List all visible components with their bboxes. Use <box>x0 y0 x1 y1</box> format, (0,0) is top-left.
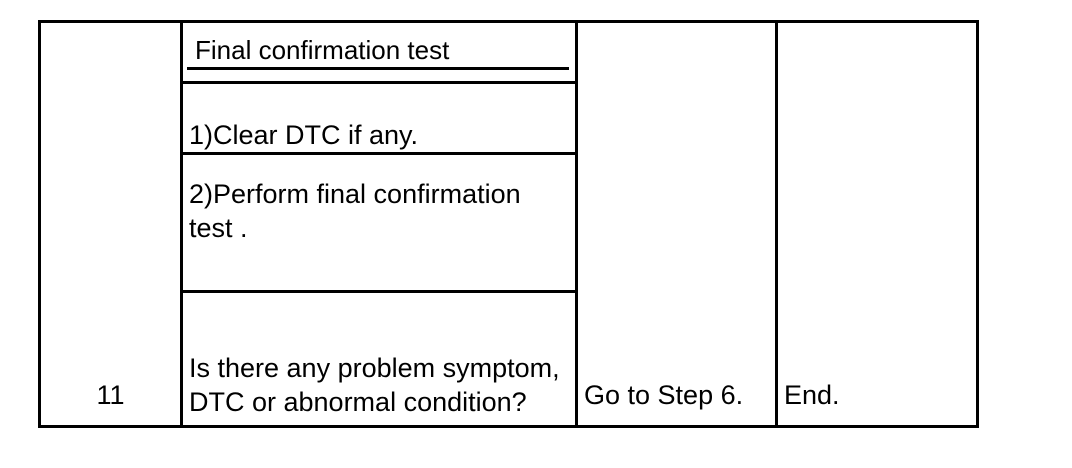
yes-action-text: Go to Step 6. <box>578 365 775 425</box>
procedure-step-1-text: 1)Clear DTC if any. <box>189 118 571 152</box>
procedure-step-2-row: 2)Perform final confirmation test . <box>183 155 575 293</box>
procedure-step-2-text: 2)Perform final confirmation test . <box>189 177 571 245</box>
no-action-text: End. <box>778 365 976 425</box>
procedure-question-text: Is there any problem symptom, DTC or abn… <box>189 351 571 419</box>
no-action-column: End. <box>778 23 976 425</box>
procedure-row-group: Final confirmation test 1)Clear DTC if a… <box>183 23 575 425</box>
procedure-title-row: Final confirmation test <box>183 23 575 84</box>
diagnostic-procedure-table: 11 Final confirmation test 1)Clear DTC i… <box>38 20 979 428</box>
procedure-step-1-row: 1)Clear DTC if any. <box>183 84 575 155</box>
page-root: 11 Final confirmation test 1)Clear DTC i… <box>0 0 1072 468</box>
procedure-question-row: Is there any problem symptom, DTC or abn… <box>183 293 575 425</box>
step-number-value: 11 <box>41 365 180 425</box>
procedure-column: Final confirmation test 1)Clear DTC if a… <box>180 23 578 425</box>
step-number-column: 11 <box>41 23 180 425</box>
yes-action-column: Go to Step 6. <box>578 23 778 425</box>
procedure-title-text: Final confirmation test <box>187 35 569 70</box>
